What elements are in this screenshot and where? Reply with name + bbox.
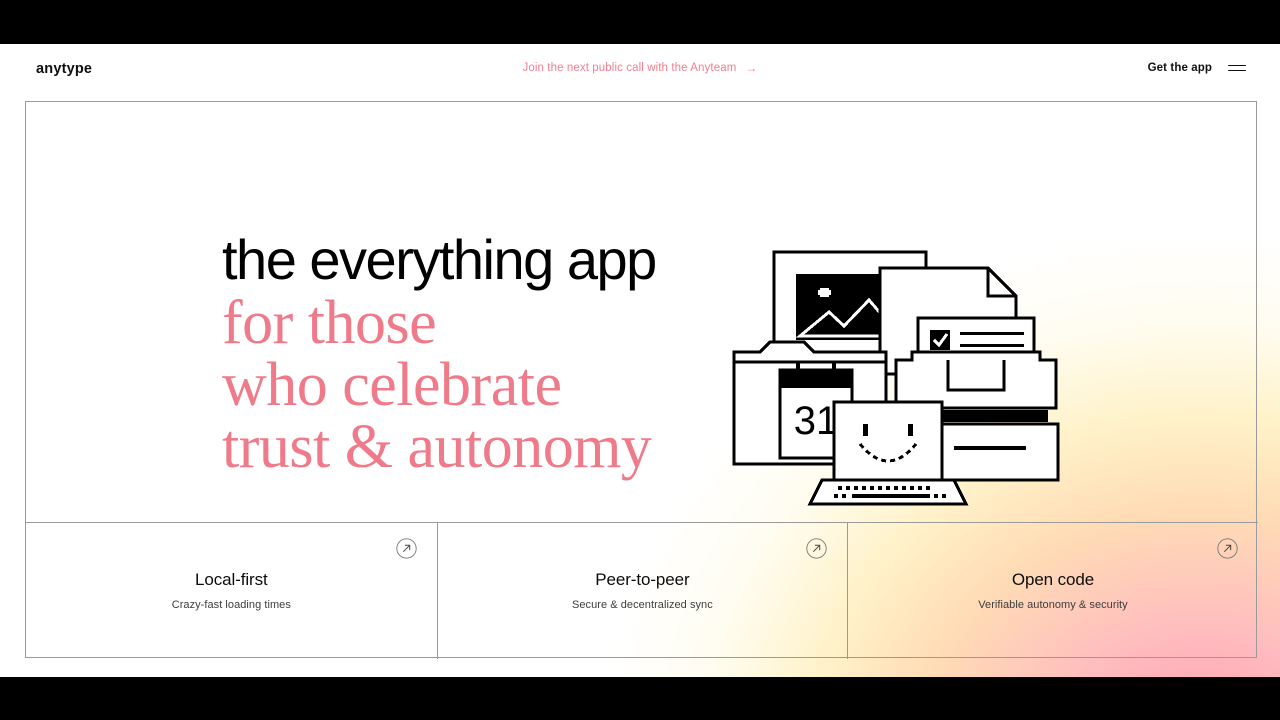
headline-line-4: trust & autonomy <box>222 416 742 478</box>
hamburger-line-2 <box>1228 70 1246 71</box>
headline-line-1: the everything app <box>222 233 742 288</box>
card-title: Open code <box>1012 570 1094 590</box>
card-subtitle: Secure & decentralized sync <box>572 599 713 611</box>
feature-card-open-code[interactable]: Open code Verifiable autonomy & security <box>847 523 1258 659</box>
get-the-app-button[interactable]: Get the app <box>1148 62 1212 74</box>
site-header: anytype Join the next public call with t… <box>0 44 1280 101</box>
arrow-up-right-circle-icon[interactable] <box>806 538 827 559</box>
header-actions: Get the app <box>1148 62 1246 74</box>
arrow-right-icon: → <box>745 62 757 74</box>
letterbox-bottom <box>0 677 1280 720</box>
feature-card-peer-to-peer[interactable]: Peer-to-peer Secure & decentralized sync <box>437 523 848 659</box>
calendar-day-label: 31 <box>794 399 839 443</box>
hamburger-menu-icon[interactable] <box>1228 65 1246 72</box>
arrow-up-right-circle-icon[interactable] <box>1217 538 1238 559</box>
hero-section: the everything app for those who celebra… <box>26 102 1258 522</box>
feature-cards: Local-first Crazy-fast loading times Pee… <box>26 523 1258 659</box>
headline-line-3: who celebrate <box>222 354 742 416</box>
hamburger-line-1 <box>1228 65 1246 66</box>
headline-line-2: for those <box>222 292 742 354</box>
pixel-art-workspace-illustration: 31 <box>726 242 1086 522</box>
content-frame: the everything app for those who celebra… <box>25 101 1257 658</box>
announcement-link[interactable]: Join the next public call with the Anyte… <box>0 62 1280 74</box>
feature-card-local-first[interactable]: Local-first Crazy-fast loading times <box>26 523 437 659</box>
arrow-up-right-circle-icon[interactable] <box>396 538 417 559</box>
card-title: Peer-to-peer <box>595 570 689 590</box>
card-subtitle: Verifiable autonomy & security <box>978 599 1127 611</box>
illustration-svg: 31 <box>726 242 1086 522</box>
laptop-smiley-icon <box>810 402 966 504</box>
page-surface: anytype Join the next public call with t… <box>0 44 1280 677</box>
hero-headline: the everything app for those who celebra… <box>222 233 742 478</box>
card-title: Local-first <box>195 570 268 590</box>
letterbox-top <box>0 0 1280 44</box>
card-subtitle: Crazy-fast loading times <box>172 599 291 611</box>
announcement-label: Join the next public call with the Anyte… <box>523 62 737 74</box>
